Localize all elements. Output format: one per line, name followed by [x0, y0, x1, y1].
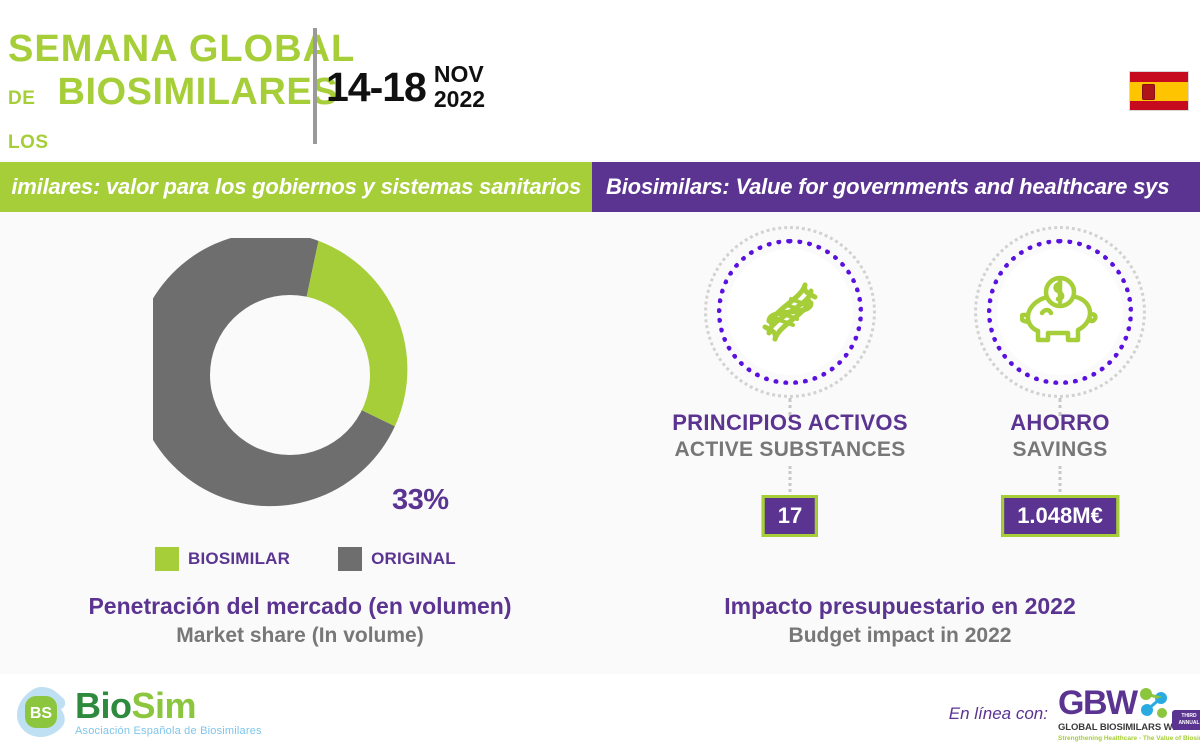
infographic-body: 33% 67% BIOSIMILAR ORIGINAL Penetración …: [0, 212, 1200, 674]
donut-label-biosimilar-pct: 33%: [392, 484, 449, 517]
header-title-line1: SEMANA GLOBAL: [8, 28, 308, 70]
budget-impact-caption-es: Impacto presupuestario en 2022: [600, 593, 1200, 620]
piggy-icon-ring: [974, 226, 1146, 398]
header-de-los: DE LOS: [8, 77, 49, 165]
en-linea-con-label: En línea con:: [949, 704, 1048, 724]
biosim-tagline: Asociación Española de Biosimilares: [75, 725, 262, 737]
stat-label-en-savings: SAVINGS: [930, 438, 1190, 462]
gbw-partner-area: En línea con: GBW GLOBAL BIOSIMILARS WEE…: [949, 685, 1200, 743]
spain-flag-icon: [1129, 71, 1189, 111]
global-biosimilar-week-logo: SEMANA GLOBAL DE LOS BIOSIMILARES GLOBAL…: [8, 28, 308, 143]
biosim-logo[interactable]: BS BioSim Asociación Española de Biosimi…: [13, 682, 262, 742]
flag-stripe-red-bottom: [1130, 101, 1188, 111]
donut-chart: [153, 238, 427, 512]
gbw-molecule-icon: [1135, 687, 1169, 721]
biosim-name: BioSim: [75, 688, 262, 724]
legend-swatch-original: [338, 547, 362, 571]
date-year: 2022: [434, 87, 485, 112]
budget-impact-panel: PRINCIPIOS ACTIVOS ACTIVE SUBSTANCES 17: [600, 212, 1200, 674]
title-banner-row: imilares: valor para los gobiernos y sis…: [0, 162, 1200, 212]
biosim-mark-icon: BS: [13, 684, 69, 740]
legend-item-biosimilar: BIOSIMILAR: [155, 547, 290, 571]
banner-english: Biosimilars: Value for governments and h…: [592, 162, 1200, 212]
legend-swatch-biosimilar: [155, 547, 179, 571]
flag-coat-of-arms: [1142, 84, 1155, 100]
biosim-bio: Bio: [75, 685, 132, 726]
header-biosimilares: BIOSIMILARES: [58, 70, 338, 114]
header-title-line2: DE LOS BIOSIMILARES: [8, 70, 308, 165]
legend-label-biosimilar: BIOSIMILAR: [188, 549, 290, 569]
date-month: NOV: [434, 62, 485, 87]
ring-disc: [997, 249, 1123, 375]
dna-helix-icon: [753, 275, 827, 349]
page-header: SEMANA GLOBAL DE LOS BIOSIMILARES GLOBAL…: [0, 0, 1200, 160]
legend-item-original: ORIGINAL: [338, 547, 456, 571]
budget-impact-caption-en: Budget impact in 2022: [600, 624, 1200, 648]
dna-icon-ring: [704, 226, 876, 398]
gbw-wordmark: GBW: [1058, 686, 1137, 720]
stat-label-en-active-substances: ACTIVE SUBSTANCES: [660, 438, 920, 462]
flag-stripe-red-top: [1130, 72, 1188, 82]
donut-legend: BIOSIMILAR ORIGINAL: [155, 545, 445, 573]
event-date: 14-18 NOV 2022: [326, 62, 485, 112]
flag-stripe-yellow: [1130, 82, 1188, 101]
market-share-panel: 33% 67% BIOSIMILAR ORIGINAL Penetración …: [0, 212, 600, 674]
stat-label-es-active-substances: PRINCIPIOS ACTIVOS: [660, 410, 920, 436]
ring-disc: [727, 249, 853, 375]
date-range: 14-18: [326, 64, 426, 111]
donut-hole: [210, 295, 370, 455]
gbw-third-annual-badge: THIRD ANNUAL: [1172, 710, 1200, 730]
biosim-wordmark: BioSim Asociación Española de Biosimilar…: [75, 688, 262, 737]
banner-spanish: imilares: valor para los gobiernos y sis…: [0, 162, 592, 212]
legend-label-original: ORIGINAL: [371, 549, 456, 569]
stat-value-savings: 1.048M€: [1001, 495, 1119, 537]
market-share-caption-es: Penetración del mercado (en volumen): [0, 593, 600, 620]
page-footer: BS BioSim Asociación Española de Biosimi…: [0, 674, 1200, 750]
date-month-year: NOV 2022: [434, 62, 485, 112]
biosim-sim: Sim: [132, 685, 197, 726]
banner-spanish-text: imilares: valor para los gobiernos y sis…: [11, 174, 581, 200]
banner-english-text: Biosimilars: Value for governments and h…: [606, 174, 1169, 200]
piggy-bank-icon: [1020, 275, 1100, 349]
biosim-bs-text: BS: [30, 705, 53, 722]
stat-value-active-substances: 17: [762, 495, 818, 537]
donut-chart-svg: [153, 238, 427, 512]
dotted-connector-bottom: [789, 466, 792, 492]
header-divider: [313, 28, 317, 144]
stat-label-es-savings: AHORRO: [930, 410, 1190, 436]
market-share-caption-en: Market share (In volume): [0, 624, 600, 648]
dotted-connector-bottom: [1059, 466, 1062, 492]
gbw-tagline: Strengthening Healthcare - The Value of …: [1058, 735, 1200, 742]
gbw-logo[interactable]: GBW GLOBAL BIOSIMILARS WEEK Strengthenin…: [1058, 686, 1200, 742]
